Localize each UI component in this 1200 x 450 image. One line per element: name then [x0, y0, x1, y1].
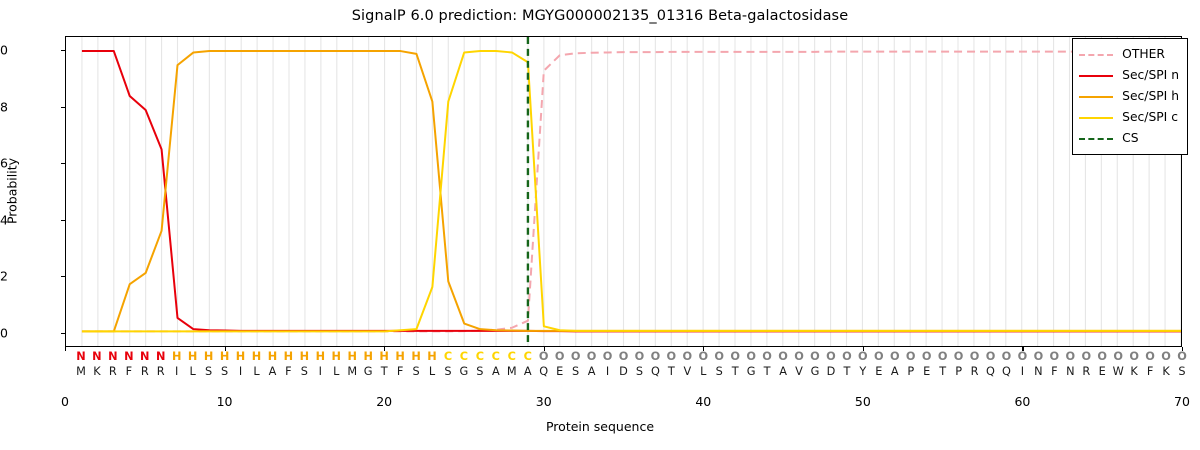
- residue-label: F: [397, 365, 404, 378]
- region-label: O: [858, 350, 868, 363]
- residue-label: R: [1082, 365, 1090, 378]
- region-label: O: [1113, 350, 1123, 363]
- region-label: O: [571, 350, 581, 363]
- residue-label: R: [109, 365, 117, 378]
- region-label: H: [172, 350, 181, 363]
- x-tick-mark: [65, 347, 66, 351]
- region-label: O: [746, 350, 756, 363]
- signalp-prediction-figure: SignalP 6.0 prediction: MGYG000002135_01…: [0, 0, 1200, 450]
- region-label: N: [92, 350, 101, 363]
- residue-label: L: [429, 365, 435, 378]
- residue-label: S: [221, 365, 228, 378]
- cleavage-site-line: [66, 37, 1181, 346]
- residue-label: V: [683, 365, 691, 378]
- region-label: H: [220, 350, 229, 363]
- residue-label: G: [460, 365, 469, 378]
- region-label: N: [76, 350, 85, 363]
- region-label: O: [635, 350, 645, 363]
- region-label: N: [156, 350, 165, 363]
- region-label: O: [762, 350, 772, 363]
- residue-label: S: [636, 365, 643, 378]
- region-label: O: [826, 350, 836, 363]
- residue-label: S: [572, 365, 579, 378]
- y-tick-label: 0.8: [0, 99, 8, 114]
- y-tick-label: 0.6: [0, 156, 8, 171]
- residue-label: L: [333, 365, 339, 378]
- region-label: H: [411, 350, 420, 363]
- residue-label: G: [747, 365, 756, 378]
- region-label: O: [794, 350, 804, 363]
- region-label: H: [300, 350, 309, 363]
- region-label: C: [476, 350, 484, 363]
- x-tick-label: 0: [61, 394, 69, 409]
- region-label: O: [651, 350, 661, 363]
- region-label: O: [938, 350, 948, 363]
- residue-label: N: [1034, 365, 1042, 378]
- residue-label: T: [939, 365, 946, 378]
- region-label: H: [427, 350, 436, 363]
- residue-label: A: [891, 365, 899, 378]
- residue-label: G: [364, 365, 373, 378]
- residue-label: K: [1130, 365, 1137, 378]
- x-tick-label: 40: [695, 394, 711, 409]
- residue-label: F: [285, 365, 292, 378]
- residue-label: L: [253, 365, 259, 378]
- legend-label: Sec/SPI n: [1122, 69, 1179, 81]
- residue-label: Y: [859, 365, 866, 378]
- region-label: H: [252, 350, 261, 363]
- region-label: O: [1018, 350, 1028, 363]
- region-label: N: [140, 350, 149, 363]
- residue-label: I: [1021, 365, 1024, 378]
- region-label: H: [284, 350, 293, 363]
- region-label: O: [619, 350, 629, 363]
- residue-label: T: [381, 365, 388, 378]
- legend-swatch-icon: [1079, 49, 1113, 61]
- legend-item-sec-spi-h[interactable]: Sec/SPI h: [1079, 86, 1179, 107]
- residue-label: Q: [986, 365, 995, 378]
- legend-item-sec-spi-n[interactable]: Sec/SPI n: [1079, 65, 1179, 86]
- x-tick-label: 70: [1174, 394, 1190, 409]
- y-tick-mark: [61, 50, 65, 51]
- x-tick-mark: [544, 347, 545, 351]
- residue-label: T: [732, 365, 739, 378]
- x-tick-label: 10: [217, 394, 233, 409]
- residue-label: F: [126, 365, 133, 378]
- y-tick-mark: [61, 220, 65, 221]
- residue-label: K: [93, 365, 100, 378]
- region-label: O: [555, 350, 565, 363]
- residue-label: I: [239, 365, 242, 378]
- region-label: H: [379, 350, 388, 363]
- residue-label: A: [269, 365, 277, 378]
- residue-label: T: [843, 365, 850, 378]
- region-label: H: [347, 350, 356, 363]
- residue-label: T: [668, 365, 675, 378]
- legend-swatch-icon: [1079, 112, 1113, 124]
- residue-label: Q: [651, 365, 660, 378]
- region-label: O: [922, 350, 932, 363]
- residue-label: E: [556, 365, 563, 378]
- legend-item-cs[interactable]: CS: [1079, 128, 1179, 149]
- region-label: O: [683, 350, 693, 363]
- residue-label: S: [444, 365, 451, 378]
- region-label: O: [1129, 350, 1139, 363]
- residue-label: S: [716, 365, 723, 378]
- residue-label: W: [1113, 365, 1124, 378]
- residue-label: R: [971, 365, 979, 378]
- residue-label: I: [175, 365, 178, 378]
- residue-label: M: [76, 365, 86, 378]
- region-label: H: [395, 350, 404, 363]
- residue-label: F: [1051, 365, 1058, 378]
- y-tick-mark: [61, 276, 65, 277]
- region-label: O: [539, 350, 549, 363]
- residue-label: V: [795, 365, 803, 378]
- region-label: H: [236, 350, 245, 363]
- y-tick-label: 0.0: [0, 325, 8, 340]
- x-tick-mark: [384, 347, 385, 351]
- residue-label: T: [764, 365, 771, 378]
- region-label: O: [1081, 350, 1091, 363]
- residue-label: R: [141, 365, 149, 378]
- region-label: H: [332, 350, 341, 363]
- region-label: O: [730, 350, 740, 363]
- legend-swatch-icon: [1079, 70, 1113, 82]
- residue-label: N: [1066, 365, 1074, 378]
- plot-area: [65, 36, 1182, 347]
- x-tick-mark: [863, 347, 864, 351]
- residue-label: E: [1099, 365, 1106, 378]
- x-tick-label: 30: [536, 394, 552, 409]
- x-tick-label: 20: [376, 394, 392, 409]
- residue-label: K: [1162, 365, 1169, 378]
- region-label: O: [1002, 350, 1012, 363]
- x-tick-label: 60: [1014, 394, 1030, 409]
- legend-label: CS: [1122, 132, 1138, 144]
- residue-label: S: [476, 365, 483, 378]
- region-label: H: [363, 350, 372, 363]
- region-label: O: [810, 350, 820, 363]
- region-label: O: [1065, 350, 1075, 363]
- region-label: C: [492, 350, 500, 363]
- y-axis-label: Probability: [5, 131, 20, 251]
- residue-label: D: [827, 365, 836, 378]
- legend-label: Sec/SPI c: [1122, 111, 1178, 123]
- region-label: N: [108, 350, 117, 363]
- residue-label: Q: [1002, 365, 1011, 378]
- region-label: O: [906, 350, 916, 363]
- region-label: O: [890, 350, 900, 363]
- region-label: O: [874, 350, 884, 363]
- y-tick-mark: [61, 107, 65, 108]
- residue-label: I: [606, 365, 609, 378]
- residue-label: S: [205, 365, 212, 378]
- region-label: N: [124, 350, 133, 363]
- region-label: O: [1034, 350, 1044, 363]
- region-label: O: [587, 350, 597, 363]
- region-label: O: [842, 350, 852, 363]
- residue-label: A: [779, 365, 787, 378]
- legend: OTHERSec/SPI nSec/SPI hSec/SPI cCS: [1072, 38, 1188, 155]
- residue-label: A: [588, 365, 596, 378]
- residue-label: S: [412, 365, 419, 378]
- residue-label: P: [907, 365, 914, 378]
- y-tick-mark: [61, 163, 65, 164]
- legend-label: Sec/SPI h: [1122, 90, 1179, 102]
- residue-label: R: [157, 365, 165, 378]
- region-label: O: [778, 350, 788, 363]
- residue-label: A: [524, 365, 532, 378]
- region-label: O: [667, 350, 677, 363]
- legend-swatch-icon: [1079, 133, 1113, 145]
- region-label: O: [1177, 350, 1187, 363]
- region-label: O: [1145, 350, 1155, 363]
- x-tick-mark: [1182, 347, 1183, 351]
- y-tick-label: 1.0: [0, 43, 8, 58]
- residue-label: L: [190, 365, 196, 378]
- residue-label: M: [507, 365, 517, 378]
- x-tick-mark: [703, 347, 704, 351]
- region-label: O: [714, 350, 724, 363]
- residue-label: E: [875, 365, 882, 378]
- residue-label: L: [700, 365, 706, 378]
- y-tick-label: 0.2: [0, 269, 8, 284]
- region-label: C: [460, 350, 468, 363]
- legend-item-other[interactable]: OTHER: [1079, 44, 1179, 65]
- page-title: SignalP 6.0 prediction: MGYG000002135_01…: [0, 8, 1200, 24]
- region-label: O: [1097, 350, 1107, 363]
- region-label: O: [698, 350, 708, 363]
- y-tick-label: 0.4: [0, 212, 8, 227]
- x-axis-label: Protein sequence: [0, 419, 1200, 434]
- residue-label: D: [619, 365, 628, 378]
- y-tick-mark: [61, 333, 65, 334]
- region-label: H: [268, 350, 277, 363]
- region-label: C: [444, 350, 452, 363]
- region-label: H: [316, 350, 325, 363]
- region-label: H: [204, 350, 213, 363]
- residue-label: S: [1178, 365, 1185, 378]
- region-label: O: [986, 350, 996, 363]
- region-label: C: [508, 350, 516, 363]
- region-label: O: [1161, 350, 1171, 363]
- residue-label: I: [319, 365, 322, 378]
- legend-swatch-icon: [1079, 91, 1113, 103]
- x-tick-label: 50: [855, 394, 871, 409]
- residue-label: S: [301, 365, 308, 378]
- legend-label: OTHER: [1122, 48, 1165, 60]
- residue-label: P: [955, 365, 962, 378]
- region-label: O: [954, 350, 964, 363]
- residue-label: M: [347, 365, 357, 378]
- x-tick-mark: [225, 347, 226, 351]
- residue-label: E: [923, 365, 930, 378]
- residue-label: G: [811, 365, 820, 378]
- x-tick-mark: [1022, 347, 1023, 351]
- region-label: C: [524, 350, 532, 363]
- region-label: H: [188, 350, 197, 363]
- legend-item-sec-spi-c[interactable]: Sec/SPI c: [1079, 107, 1179, 128]
- region-label: O: [603, 350, 613, 363]
- residue-label: Q: [539, 365, 548, 378]
- residue-label: F: [1147, 365, 1154, 378]
- region-label: O: [970, 350, 980, 363]
- region-label: O: [1050, 350, 1060, 363]
- residue-label: A: [492, 365, 500, 378]
